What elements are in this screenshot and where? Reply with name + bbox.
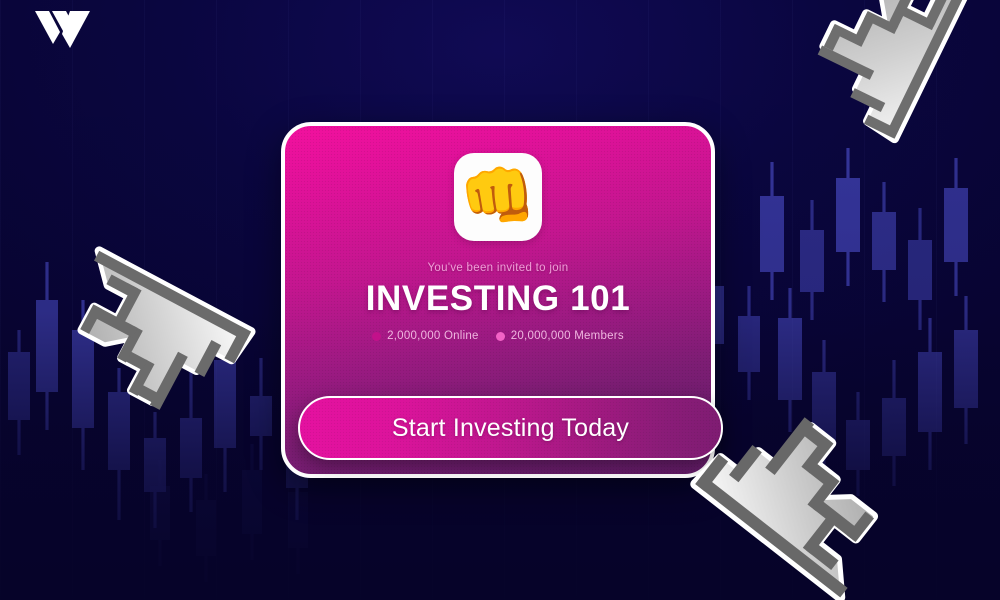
candle xyxy=(846,392,870,496)
members-status-dot xyxy=(496,332,505,341)
candle xyxy=(738,286,760,400)
candle xyxy=(108,368,130,520)
stat-members: 20,000,000 Members xyxy=(496,330,624,342)
candle xyxy=(872,182,896,302)
start-investing-button-label: Start Investing Today xyxy=(392,414,629,443)
community-avatar-tile: 👊 xyxy=(454,153,542,241)
candle xyxy=(944,158,968,296)
candle xyxy=(242,444,262,560)
stat-members-label: 20,000,000 Members xyxy=(511,330,624,342)
candle xyxy=(8,330,30,455)
community-name-title: INVESTING 101 xyxy=(366,279,631,319)
candle xyxy=(196,474,216,582)
community-invite-card: 👊 You've been invited to join INVESTING … xyxy=(281,122,715,478)
fist-bump-emoji: 👊 xyxy=(459,166,536,228)
community-stats: 2,000,000 Online 20,000,000 Members xyxy=(372,330,624,342)
invitation-subtitle: You've been invited to join xyxy=(428,262,569,274)
candle xyxy=(180,370,202,512)
candle xyxy=(954,296,978,444)
candle xyxy=(778,288,802,432)
promo-banner: 👊 You've been invited to join INVESTING … xyxy=(0,0,1000,600)
online-status-dot xyxy=(372,332,381,341)
candle xyxy=(812,340,836,472)
candle xyxy=(72,300,94,470)
stat-online-label: 2,000,000 Online xyxy=(387,330,479,342)
stat-online: 2,000,000 Online xyxy=(372,330,479,342)
start-investing-button[interactable]: Start Investing Today xyxy=(298,396,723,460)
candle xyxy=(918,318,942,470)
wealthsimple-w-logo xyxy=(34,8,92,52)
candle xyxy=(800,200,824,320)
candle xyxy=(214,318,236,492)
candle xyxy=(882,360,906,486)
candle xyxy=(836,148,860,286)
candle xyxy=(36,262,58,430)
candle xyxy=(908,208,932,330)
candle xyxy=(760,162,784,300)
